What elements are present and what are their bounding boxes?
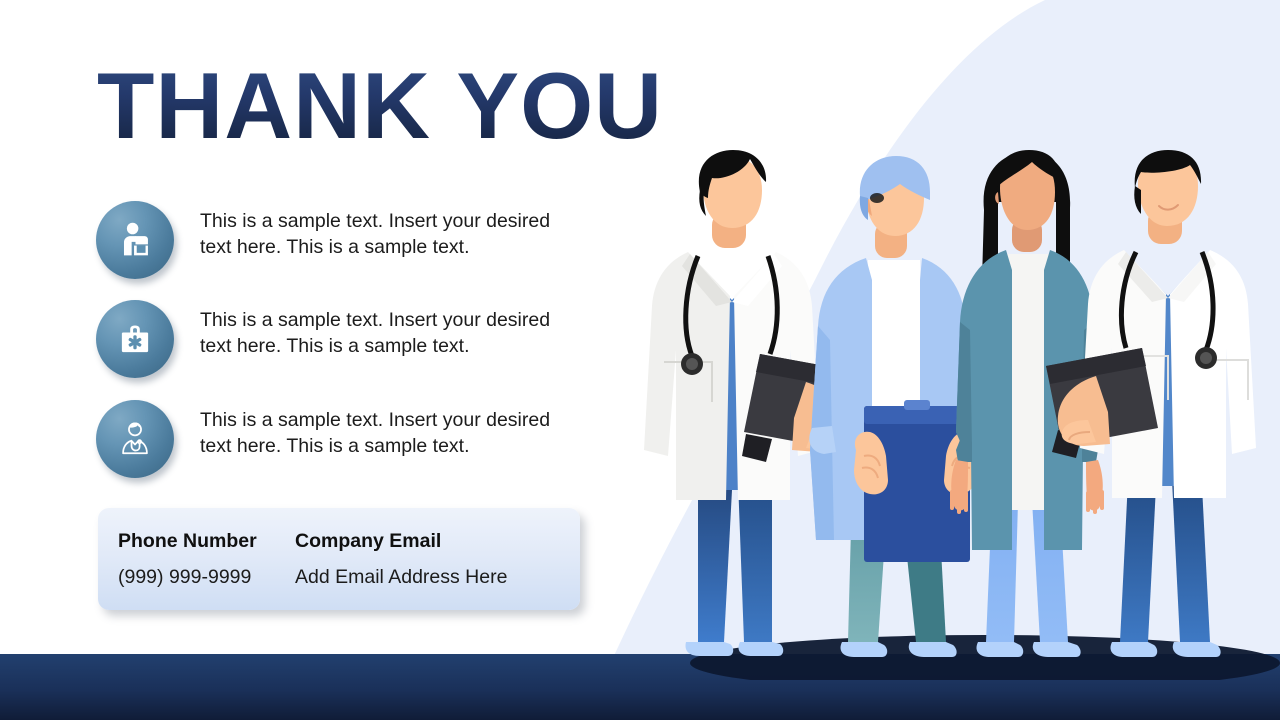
bullet-row: This is a sample text. Insert your desir… [96,300,586,380]
medical-team-illustration [620,150,1280,680]
bullet-row: This is a sample text. Insert your desir… [96,400,586,480]
bullet-text: This is a sample text. Insert your desir… [200,308,580,359]
patient-arm-sling-icon [96,201,174,279]
figure-surgeon-2 [809,156,978,657]
bullet-row: This is a sample text. Insert your desir… [96,201,586,281]
company-email-label: Company Email [295,530,555,553]
doctor-stethoscope-icon [96,400,174,478]
contact-value-row: (999) 999-9999 Add Email Address Here [98,566,580,589]
contact-info-box: Phone Number Company Email (999) 999-999… [98,508,580,610]
page-title: THANK YOU [97,58,663,154]
figure-doctor-4 [1046,150,1256,657]
slide-canvas: THANK YOU This is a sample text. Insert … [0,0,1280,720]
medical-kit-icon [96,300,174,378]
contact-header-row: Phone Number Company Email [98,530,580,566]
company-email-value[interactable]: Add Email Address Here [295,566,555,589]
phone-number-value[interactable]: (999) 999-9999 [98,566,295,589]
bullet-text: This is a sample text. Insert your desir… [200,408,580,459]
bullet-text: This is a sample text. Insert your desir… [200,209,580,260]
phone-number-label: Phone Number [98,530,295,553]
